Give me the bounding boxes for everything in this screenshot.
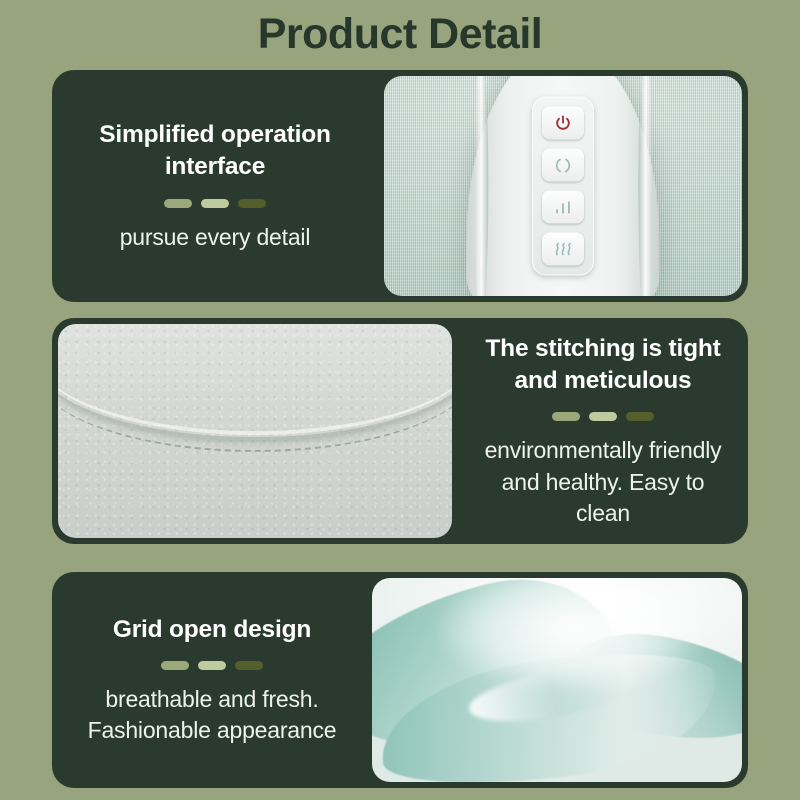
dash-2 xyxy=(198,661,226,670)
page-title: Product Detail xyxy=(0,0,800,62)
intensity-level-button[interactable] xyxy=(542,191,584,224)
dash-separator xyxy=(161,661,263,670)
power-button[interactable] xyxy=(542,107,584,140)
card-subtext: pursue every detail xyxy=(120,222,311,253)
dash-3 xyxy=(238,199,266,208)
card-subtext: environmentally friendly and healthy. Ea… xyxy=(472,435,734,529)
heat-function-button[interactable] xyxy=(542,233,584,266)
kneading-mode-button[interactable] xyxy=(542,149,584,182)
card-text-panel: The stitching is tight and meticulous en… xyxy=(458,318,748,544)
mint-silk-fabric-photo xyxy=(372,578,742,782)
button-strip xyxy=(532,97,594,276)
soft-haze xyxy=(439,578,705,692)
control-panel-photo xyxy=(384,76,742,296)
card-text-panel: Simplified operation interface pursue ev… xyxy=(52,70,378,302)
dash-3 xyxy=(235,661,263,670)
dash-1 xyxy=(161,661,189,670)
detail-card-simplified-operation-interface: Simplified operation interface pursue ev… xyxy=(52,70,748,302)
dash-separator xyxy=(164,199,266,208)
dash-2 xyxy=(589,412,617,421)
card-heading: The stitching is tight and meticulous xyxy=(472,333,734,398)
dash-3 xyxy=(626,412,654,421)
detail-card-stitching-tight-meticulous: The stitching is tight and meticulous en… xyxy=(52,318,748,544)
card-text-panel: Grid open design breathable and fresh. F… xyxy=(52,572,372,788)
stitching-seam-photo xyxy=(58,324,452,538)
dash-1 xyxy=(164,199,192,208)
card-subtext: breathable and fresh. Fashionable appear… xyxy=(66,684,358,747)
card-heading: Grid open design xyxy=(113,614,311,646)
dash-2 xyxy=(201,199,229,208)
dash-1 xyxy=(552,412,580,421)
detail-card-grid-open-design: Grid open design breathable and fresh. F… xyxy=(52,572,748,788)
dash-separator xyxy=(552,412,654,421)
card-heading: Simplified operation interface xyxy=(66,119,364,184)
